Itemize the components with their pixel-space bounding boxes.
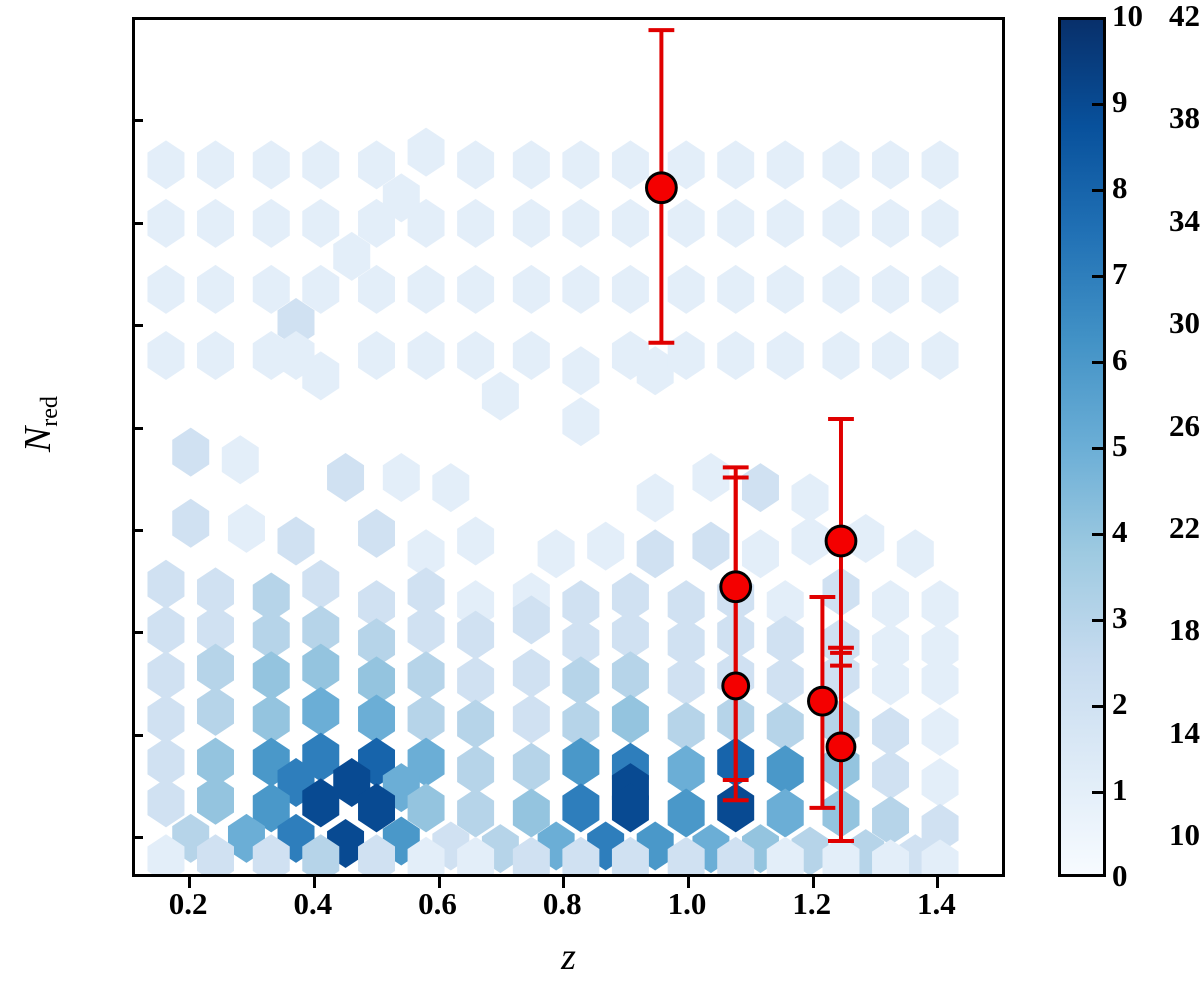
colorbar-tick: [1092, 361, 1106, 364]
y-axis-title-subscript: red: [37, 396, 63, 427]
y-tick: [132, 119, 143, 122]
colorbar-tick-label: 5: [1112, 430, 1172, 461]
colorbar-tick-label: 6: [1112, 344, 1172, 375]
colorbar-tick-label: 7: [1112, 258, 1172, 289]
y-tick: [132, 324, 143, 327]
colorbar-tick-label: 1: [1112, 774, 1172, 805]
x-tick-label: 0.8: [502, 888, 622, 919]
y-tick: [132, 529, 143, 532]
plot-area: [132, 17, 1005, 877]
colorbar-tick-label: 0: [1112, 860, 1172, 891]
colorbar-tick-label: 2: [1112, 688, 1172, 719]
colorbar-tick: [1092, 103, 1106, 106]
y-tick: [132, 734, 143, 737]
hexbin-scatter-figure: 101418222630343842 0.20.40.60.81.01.21.4…: [0, 0, 1200, 994]
x-tick-label: 1.4: [876, 888, 996, 919]
x-axis-title: z: [132, 935, 1005, 979]
colorbar-tick: [1092, 447, 1106, 450]
x-tick-label: 0.6: [378, 888, 498, 919]
colorbar-tick: [1092, 619, 1106, 622]
colorbar-tick-label: 9: [1112, 86, 1172, 117]
data-point-marker: [646, 173, 676, 203]
data-point-marker: [723, 673, 749, 699]
colorbar-tick-label: 10: [1112, 0, 1172, 31]
colorbar-tick-label: 8: [1112, 172, 1172, 203]
colorbar-tick: [1092, 533, 1106, 536]
y-axis-title: Nred: [16, 324, 64, 524]
colorbar-tick-label: 3: [1112, 602, 1172, 633]
data-point-marker: [809, 687, 837, 715]
colorbar-tick-label: 4: [1112, 516, 1172, 547]
x-tick-label: 0.2: [128, 888, 248, 919]
y-tick: [132, 17, 143, 20]
y-tick: [132, 631, 143, 634]
x-tick-label: 1.2: [752, 888, 872, 919]
y-axis-title-base: N: [17, 427, 59, 452]
colorbar-tick: [1092, 189, 1106, 192]
data-point-marker: [826, 526, 856, 556]
y-tick: [132, 836, 143, 839]
y-tick: [132, 427, 143, 430]
colorbar-tick: [1092, 791, 1106, 794]
colorbar-tick: [1092, 275, 1106, 278]
colorbar-tick: [1092, 705, 1106, 708]
y-tick: [132, 222, 143, 225]
overlay-points-layer: [135, 20, 1002, 874]
x-tick-label: 1.0: [627, 888, 747, 919]
x-tick-label: 0.4: [253, 888, 373, 919]
data-point-marker: [721, 572, 751, 602]
data-point-marker: [827, 733, 855, 761]
